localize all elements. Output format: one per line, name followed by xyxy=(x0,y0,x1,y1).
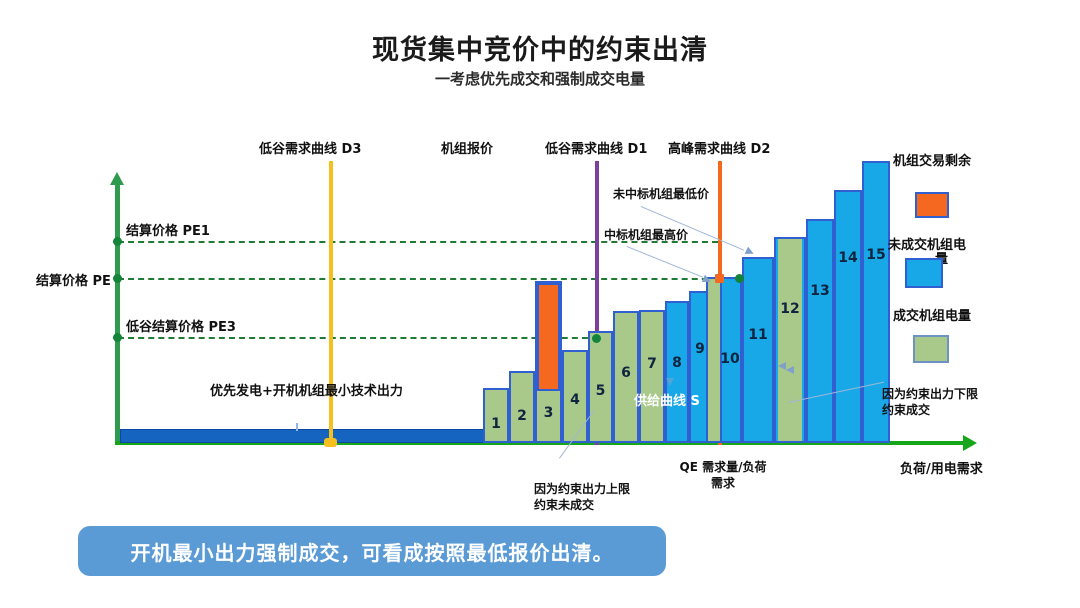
bar-label-5: 5 xyxy=(590,383,611,399)
bar-label-8: 8 xyxy=(667,355,687,371)
lowest-nonwinning-price-label: 未中标机组最低价 xyxy=(613,185,709,202)
legend-title-surplus: 机组交易剩余 xyxy=(893,150,971,169)
unit-offer-label: 机组报价 xyxy=(441,138,493,157)
page-subtitle: 一考虑优先成交和强制成交电量 xyxy=(0,68,1080,89)
qe-label-line1: QE 需求量/负荷 xyxy=(648,458,798,475)
bar-6: 6 xyxy=(613,311,639,443)
lower-constraint-label-line1: 因为约束出力下限 xyxy=(882,385,978,402)
bar-10: 10 xyxy=(706,277,742,443)
bar-13: 13 xyxy=(806,219,834,443)
bar-label-11: 11 xyxy=(744,327,772,343)
bar-11: 11 xyxy=(742,257,774,443)
highest-winning-price-label: 中标机组最高价 xyxy=(604,226,688,243)
y-axis xyxy=(115,182,120,445)
bar-label-13: 13 xyxy=(808,283,832,299)
x-axis-label: 负荷/用电需求 xyxy=(900,458,983,477)
intersection-marker-pe1 xyxy=(715,274,724,283)
bar-label-4: 4 xyxy=(564,392,586,408)
caption-banner: 开机最小出力强制成交，可看成按照最低报价出清。 xyxy=(78,526,666,576)
must-run-baseline-block xyxy=(120,429,485,443)
upper-constraint-label-line1: 因为约束出力上限 xyxy=(534,480,630,497)
legend-title-traded: 成交机组电量 xyxy=(893,305,971,324)
leader-arrow-bar12 xyxy=(778,362,786,370)
x-axis-arrow-icon xyxy=(963,435,977,451)
bar-label-12: 12 xyxy=(776,301,804,317)
legend-swatch-surplus xyxy=(915,192,949,218)
bar-label-15: 15 xyxy=(864,247,888,263)
min-output-label: 优先发电+开机机组最小技术出力 xyxy=(210,380,403,399)
legend-swatch-untraded xyxy=(905,258,943,288)
price-dot-pe3 xyxy=(113,333,122,342)
intersection-dot-pe3 xyxy=(592,334,601,343)
lower-constraint-label-line2: 约束成交 xyxy=(882,401,930,418)
bar-label-10: 10 xyxy=(716,351,744,367)
price-label-pe3: 低谷结算价格 PE3 xyxy=(126,316,236,335)
demand-curve-d2-label: 高峰需求曲线 D2 xyxy=(668,138,770,157)
bar-label-1: 1 xyxy=(485,416,507,432)
y-axis-arrow-icon xyxy=(110,172,124,185)
must-run-nick-icon xyxy=(296,423,298,431)
leader-arrow-lower-constraint xyxy=(786,366,794,374)
legend-swatch-traded xyxy=(913,335,949,363)
upper-constraint-label-line2: 约束未成交 xyxy=(534,496,594,513)
price-dot-pe1 xyxy=(113,237,122,246)
bar-label-6: 6 xyxy=(615,365,637,381)
bar-3-surplus-segment xyxy=(537,283,560,391)
demand-curve-d3-line xyxy=(329,161,333,445)
caption-text: 开机最小出力强制成交，可看成按照最低报价出清。 xyxy=(131,537,614,566)
leader-arrow-lowest-nonwinning xyxy=(745,247,756,258)
slide-canvas: 现货集中竞价中的约束出清 一考虑优先成交和强制成交电量 负荷/用电需求 结算价格… xyxy=(0,0,1080,608)
price-label-pe1: 结算价格 PE1 xyxy=(126,220,210,239)
supply-curve-label: 供给曲线 S xyxy=(634,390,700,409)
price-line-pe3 xyxy=(118,337,598,339)
demand-curve-d3-label: 低谷需求曲线 D3 xyxy=(259,138,361,157)
bar-4: 4 xyxy=(562,350,588,443)
page-title: 现货集中竞价中的约束出清 xyxy=(0,28,1080,67)
bar-5: 5 xyxy=(588,331,613,443)
leader-arrow-supply-curve xyxy=(666,378,674,386)
bar-8: 8 xyxy=(665,301,689,443)
bar-3: 3 xyxy=(535,281,562,443)
bar-2: 2 xyxy=(509,371,535,443)
bar-label-2: 2 xyxy=(511,408,533,424)
bar-label-14: 14 xyxy=(836,250,860,266)
bar-1: 1 xyxy=(483,388,509,443)
bar-12-traded-segment xyxy=(778,239,802,441)
demand-curve-d3-marker xyxy=(324,438,337,447)
bar-12: 12 xyxy=(774,237,806,443)
bar-7: 7 xyxy=(639,310,665,443)
bar-label-7: 7 xyxy=(641,356,663,372)
qe-label-line2: 需求 xyxy=(648,474,798,491)
price-label-pe: 结算价格 PE xyxy=(36,270,111,289)
bar-label-3: 3 xyxy=(537,405,560,421)
intersection-dot-pe xyxy=(735,274,744,283)
bar-14: 14 xyxy=(834,190,862,443)
price-dot-pe xyxy=(113,274,122,283)
legend-title-untraded-line1: 未成交机组电 xyxy=(888,234,966,253)
leader-line-highest-winning xyxy=(627,246,703,278)
demand-curve-d1-label: 低谷需求曲线 D1 xyxy=(545,138,647,157)
price-line-pe xyxy=(118,278,738,280)
